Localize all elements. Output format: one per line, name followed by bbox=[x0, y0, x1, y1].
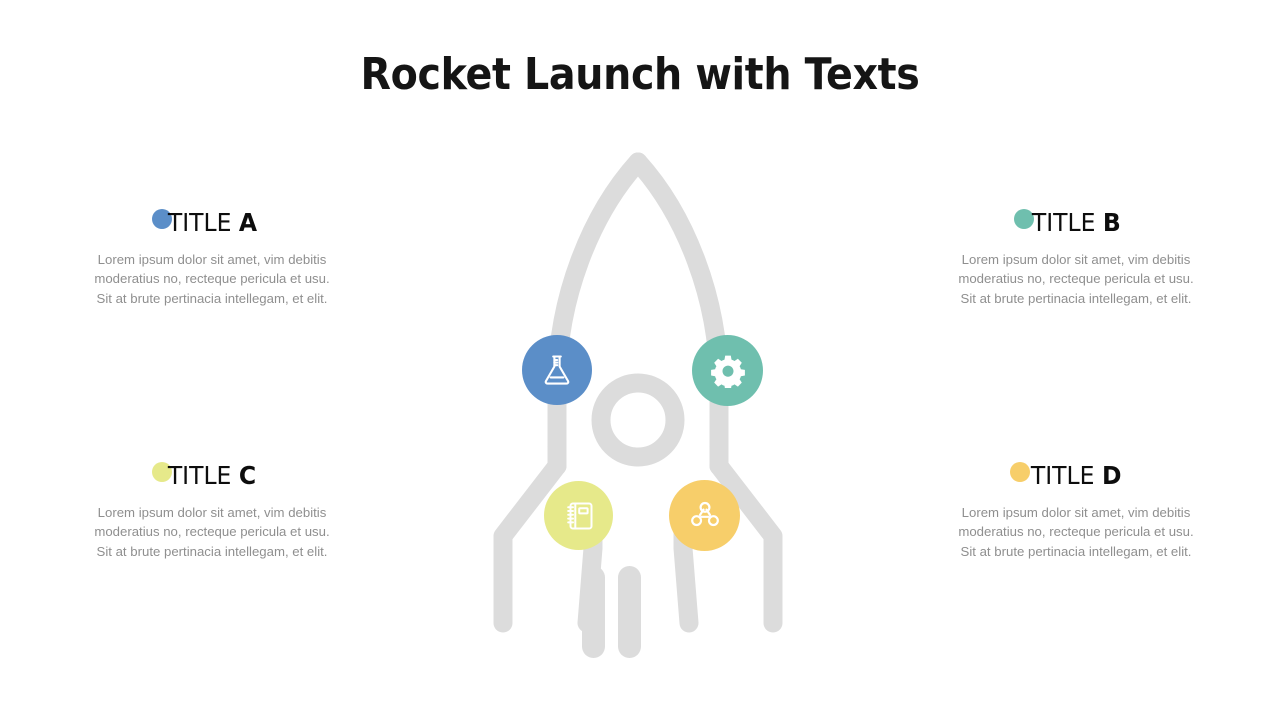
body-line: Lorem ipsum dolor sit amet, vim debitis bbox=[926, 250, 1226, 269]
body-line: moderatius no, recteque pericula et usu. bbox=[62, 269, 362, 288]
heading-text-c: TITLE C bbox=[168, 459, 256, 493]
icon-badge-network[interactable] bbox=[669, 480, 740, 551]
heading-prefix-d: TITLE bbox=[1031, 461, 1102, 490]
text-block-a: TITLE A Lorem ipsum dolor sit amet, vim … bbox=[62, 206, 362, 308]
body-line: Lorem ipsum dolor sit amet, vim debitis bbox=[62, 503, 362, 522]
bullet-dot-d bbox=[1010, 462, 1030, 482]
heading-letter-d: D bbox=[1102, 461, 1122, 490]
body-text-b: Lorem ipsum dolor sit amet, vim debitis … bbox=[926, 250, 1226, 308]
text-block-b: TITLE B Lorem ipsum dolor sit amet, vim … bbox=[926, 206, 1226, 308]
heading-text-a: TITLE A bbox=[167, 206, 256, 240]
heading-b: TITLE B bbox=[926, 206, 1226, 246]
icon-badge-gear[interactable] bbox=[692, 335, 763, 406]
body-line: Sit at brute pertinacia intellegam, et e… bbox=[62, 542, 362, 561]
heading-text-b: TITLE B bbox=[1032, 206, 1121, 240]
heading-letter-b: B bbox=[1103, 208, 1121, 237]
rocket-window-icon bbox=[601, 383, 675, 457]
body-line: Sit at brute pertinacia intellegam, et e… bbox=[926, 289, 1226, 308]
body-line: Lorem ipsum dolor sit amet, vim debitis bbox=[926, 503, 1226, 522]
body-text-a: Lorem ipsum dolor sit amet, vim debitis … bbox=[62, 250, 362, 308]
heading-prefix-b: TITLE bbox=[1032, 208, 1103, 237]
body-line: moderatius no, recteque pericula et usu. bbox=[926, 269, 1226, 288]
heading-text-d: TITLE D bbox=[1031, 459, 1122, 493]
text-block-c: TITLE C Lorem ipsum dolor sit amet, vim … bbox=[62, 459, 362, 561]
heading-letter-a: A bbox=[238, 208, 256, 237]
slide-canvas: Rocket Launch with Texts bbox=[0, 0, 1280, 720]
heading-letter-c: C bbox=[239, 461, 256, 490]
network-icon bbox=[688, 499, 722, 533]
heading-prefix-c: TITLE bbox=[168, 461, 239, 490]
heading-c: TITLE C bbox=[62, 459, 362, 499]
heading-a: TITLE A bbox=[62, 206, 362, 246]
body-line: Lorem ipsum dolor sit amet, vim debitis bbox=[62, 250, 362, 269]
body-line: Sit at brute pertinacia intellegam, et e… bbox=[926, 542, 1226, 561]
notebook-icon bbox=[562, 499, 596, 533]
rocket-flame-left-icon bbox=[582, 566, 605, 658]
gear-icon bbox=[711, 354, 745, 388]
flask-icon bbox=[539, 352, 575, 388]
icon-badge-flask[interactable] bbox=[522, 335, 592, 405]
body-text-c: Lorem ipsum dolor sit amet, vim debitis … bbox=[62, 503, 362, 561]
rocket-flame-right-icon bbox=[618, 566, 641, 658]
text-block-d: TITLE D Lorem ipsum dolor sit amet, vim … bbox=[926, 459, 1226, 561]
body-line: Sit at brute pertinacia intellegam, et e… bbox=[62, 289, 362, 308]
rocket-outline-icon bbox=[465, 148, 815, 660]
heading-d: TITLE D bbox=[926, 459, 1226, 499]
icon-badge-notebook[interactable] bbox=[544, 481, 613, 550]
rocket-illustration bbox=[465, 148, 815, 660]
body-line: moderatius no, recteque pericula et usu. bbox=[926, 522, 1226, 541]
page-title: Rocket Launch with Texts bbox=[64, 46, 1216, 104]
heading-prefix-a: TITLE bbox=[167, 208, 238, 237]
body-line: moderatius no, recteque pericula et usu. bbox=[62, 522, 362, 541]
body-text-d: Lorem ipsum dolor sit amet, vim debitis … bbox=[926, 503, 1226, 561]
